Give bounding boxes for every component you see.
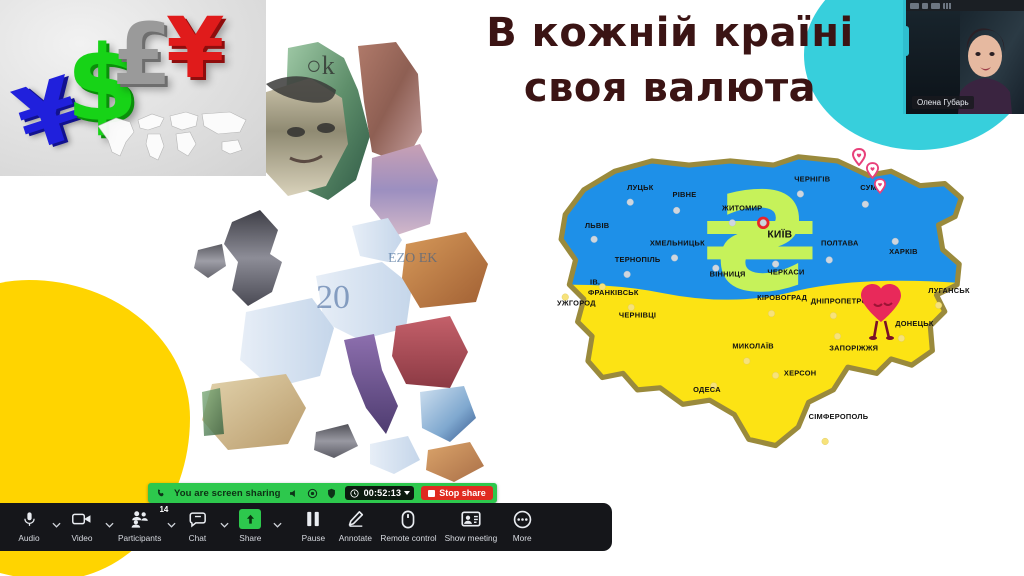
city-dot	[673, 207, 680, 214]
toolbar-button-more[interactable]: More	[501, 508, 543, 543]
city-dot	[797, 191, 804, 198]
share-screen-icon	[239, 509, 261, 529]
city-label: ХЕРСОН	[784, 368, 816, 377]
heart-mascot-icon	[858, 282, 904, 340]
shield-icon[interactable]	[326, 487, 338, 499]
city-label: ЧЕРНІГІВ	[794, 175, 831, 184]
city-label: ХАРКІВ	[889, 247, 918, 256]
phone-icon[interactable]	[155, 487, 167, 499]
participants-icon	[130, 508, 150, 530]
toolbar-label: Chat	[189, 533, 207, 543]
heart-pin-icon	[874, 178, 886, 194]
yen-symbol-red-icon: ¥	[166, 6, 224, 90]
city-dot	[935, 302, 942, 309]
svg-text:○k: ○k	[306, 51, 335, 80]
toolbar-button-chat[interactable]: Chat	[176, 508, 218, 543]
world-map-graphic	[90, 104, 260, 166]
city-label: ІВ.	[590, 278, 600, 287]
toolbar-button-video[interactable]: Video	[61, 508, 103, 543]
share-timer[interactable]: 00:52:13	[345, 486, 415, 500]
chat-bubble-icon	[188, 508, 207, 530]
city-dot	[822, 438, 829, 445]
toolbar-button-participants[interactable]: 14Participants	[114, 508, 165, 543]
ellipsis-icon	[513, 508, 532, 530]
city-label: УЖГОРОД	[557, 298, 596, 307]
video-panel-toolbar[interactable]	[906, 0, 1024, 11]
share-status-text: You are screen sharing	[174, 488, 281, 499]
city-dot	[760, 220, 767, 227]
stop-share-label: Stop share	[439, 488, 486, 498]
show-meeting-icon	[461, 508, 481, 530]
video-panel-collapse-handle[interactable]	[903, 26, 909, 56]
record-icon[interactable]	[307, 487, 319, 499]
chevron-down-icon[interactable]	[404, 491, 410, 495]
clock-icon	[349, 487, 361, 499]
share-timer-value: 00:52:13	[364, 488, 402, 498]
pound-symbol-gray-icon: £	[112, 12, 172, 98]
toolbar-label: Participants	[118, 533, 161, 543]
video-camera-icon	[72, 508, 92, 530]
toolbar-label: Pause	[302, 533, 326, 543]
city-dot	[772, 261, 779, 268]
city-label: КИЇВ	[767, 227, 792, 240]
window-restore-icon[interactable]	[931, 3, 940, 9]
chevron-down-icon[interactable]	[220, 515, 229, 533]
slide-title-line-1: В кожній країні	[420, 6, 920, 61]
toolbar-label: Show meeting	[445, 533, 498, 543]
chevron-down-icon[interactable]	[167, 515, 176, 533]
slide-title: В кожній країнісвоя валюта	[420, 6, 920, 116]
slide-title-line-2: своя валюта	[420, 61, 920, 116]
toolbar-button-share[interactable]: Share	[229, 508, 271, 543]
chevron-down-icon[interactable]	[105, 515, 114, 533]
heart-pin-icon	[852, 148, 866, 166]
city-dot	[627, 199, 634, 206]
city-label: ЧЕРКАСИ	[767, 267, 804, 276]
city-label: ТЕРНОПІЛЬ	[615, 255, 661, 264]
window-maximize-icon[interactable]	[922, 3, 928, 9]
city-label: ЛУГАНСЬК	[928, 286, 970, 295]
stop-share-button[interactable]: Stop share	[421, 486, 493, 500]
toolbar-label: Share	[239, 533, 261, 543]
pause-icon	[305, 508, 321, 530]
svg-text:EZO EK: EZO EK	[388, 251, 437, 266]
city-dot	[834, 333, 841, 340]
city-label: ВІННИЦЯ	[710, 269, 746, 278]
city-dot	[743, 358, 750, 365]
city-label: КІРОВОГРАД	[757, 293, 808, 302]
toolbar-label: Remote control	[380, 533, 436, 543]
city-dot	[768, 310, 775, 317]
city-dot	[772, 372, 779, 379]
city-label: ОДЕСА	[693, 385, 721, 394]
city-dot	[624, 271, 631, 278]
toolbar-label: Annotate	[339, 533, 372, 543]
participant-name-label: Олена Губарь	[912, 96, 974, 109]
city-label: СІМФЕРОПОЛЬ	[809, 412, 869, 421]
zoom-control-toolbar[interactable]: AudioVideo14ParticipantsChatSharePauseAn…	[0, 503, 612, 551]
ukraine-map: ₴ ЛУЦЬКРІВНЕЖИТОМИРЧЕРНІГІВСУМИКИЇВЛЬВІВ…	[495, 130, 1015, 460]
chevron-down-icon[interactable]	[52, 515, 61, 533]
city-label: МИКОЛАЇВ	[732, 342, 774, 351]
city-dot	[729, 220, 736, 227]
currency-symbols-photo: ¥ $ £ ¥	[0, 0, 266, 176]
window-minimize-icon[interactable]	[910, 3, 919, 9]
toolbar-label: Video	[71, 533, 92, 543]
chevron-down-icon[interactable]	[273, 515, 282, 533]
heart-pin-icon	[866, 162, 879, 179]
participant-video-thumbnail[interactable]: Олена Губарь	[903, 0, 1024, 114]
toolbar-label: Audio	[18, 533, 39, 543]
city-label: ЛУЦЬК	[627, 183, 654, 192]
microphone-icon	[21, 508, 38, 530]
city-label: ЛЬВІВ	[585, 221, 610, 230]
city-dot	[862, 201, 869, 208]
video-feed: Олена Губарь	[906, 11, 1024, 114]
city-dot	[892, 238, 899, 245]
city-label: ЗАПОРІЖЖЯ	[829, 344, 878, 353]
toolbar-label: More	[513, 533, 532, 543]
pencil-icon	[347, 508, 364, 530]
toolbar-button-annotate[interactable]: Annotate	[334, 508, 376, 543]
toolbar-button-audio[interactable]: Audio	[8, 508, 50, 543]
city-dot	[671, 255, 678, 262]
city-label: ЖИТОМИР	[721, 203, 762, 212]
mute-icon[interactable]	[288, 487, 300, 499]
city-dot	[826, 257, 833, 264]
city-dot	[628, 304, 635, 311]
share-screen-icon	[239, 508, 261, 530]
stop-square-icon	[428, 490, 435, 497]
city-label: ЧЕРНІВЦІ	[619, 311, 656, 320]
screen-share-status-bar: You are screen sharing 00:52:13 Stop sha…	[148, 483, 497, 503]
toolbar-button-pause[interactable]: Pause	[292, 508, 334, 543]
participants-count-badge: 14	[159, 505, 168, 514]
city-dot	[591, 236, 598, 243]
toolbar-button-show-meeting[interactable]: Show meeting	[441, 508, 502, 543]
city-label: ХМЕЛЬНИЦЬК	[650, 239, 705, 248]
window-menu-icon[interactable]	[943, 3, 952, 9]
mouse-icon	[401, 508, 415, 530]
screen-share-stage: В кожній країнісвоя валюта ¥ $ £ ¥	[0, 0, 1024, 576]
city-label: ПОЛТАВА	[821, 239, 859, 248]
city-label: РІВНЕ	[673, 190, 697, 199]
toolbar-button-remote-control[interactable]: Remote control	[376, 508, 440, 543]
svg-text:20: 20	[316, 279, 350, 316]
city-label: ФРАНКІВСЬК	[588, 288, 639, 297]
city-dot	[830, 312, 837, 319]
